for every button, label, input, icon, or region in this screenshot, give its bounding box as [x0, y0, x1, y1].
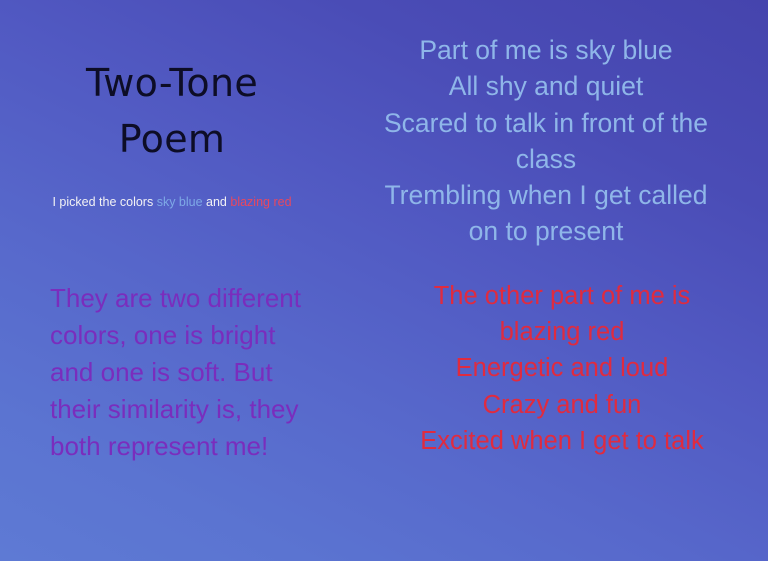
- blue-poem-line: on to present: [346, 213, 746, 249]
- red-poem-line: Excited when I get to talk: [362, 423, 762, 459]
- subtitle-sky-blue: sky blue: [157, 195, 203, 209]
- red-poem-line: Energetic and loud: [362, 350, 762, 386]
- poem-slide: Two-Tone Poem I picked the colors sky bl…: [0, 0, 768, 561]
- red-poem-line: blazing red: [362, 314, 762, 350]
- blue-poem-line: class: [346, 141, 746, 177]
- subtitle-blazing-red: blazing red: [230, 195, 291, 209]
- blue-poem-line: Part of me is sky blue: [346, 32, 746, 68]
- title-line-2: Poem: [22, 112, 322, 168]
- blue-poem-line: Scared to talk in front of the: [346, 105, 746, 141]
- red-poem-line: The other part of me is: [362, 278, 762, 314]
- blue-poem-block: Part of me is sky blue All shy and quiet…: [346, 32, 746, 250]
- purple-text-line: their similarity is, they: [50, 391, 340, 428]
- title-block: Two-Tone Poem: [22, 56, 322, 168]
- red-poem-block: The other part of me is blazing red Ener…: [362, 278, 762, 459]
- purple-text-line: They are two different: [50, 280, 340, 317]
- blue-poem-line: All shy and quiet: [346, 68, 746, 104]
- blue-poem-line: Trembling when I get called: [346, 177, 746, 213]
- purple-text-line: both represent me!: [50, 428, 340, 465]
- title-line-1: Two-Tone: [22, 56, 322, 112]
- purple-text-line: and one is soft. But: [50, 354, 340, 391]
- subtitle-part-2: and: [203, 195, 227, 209]
- subtitle-block: I picked the colors sky blue and blazing…: [22, 194, 322, 211]
- red-poem-line: Crazy and fun: [362, 387, 762, 423]
- subtitle-part-1: I picked the colors: [52, 195, 156, 209]
- purple-text-line: colors, one is bright: [50, 317, 340, 354]
- purple-commentary-block: They are two different colors, one is br…: [50, 280, 340, 465]
